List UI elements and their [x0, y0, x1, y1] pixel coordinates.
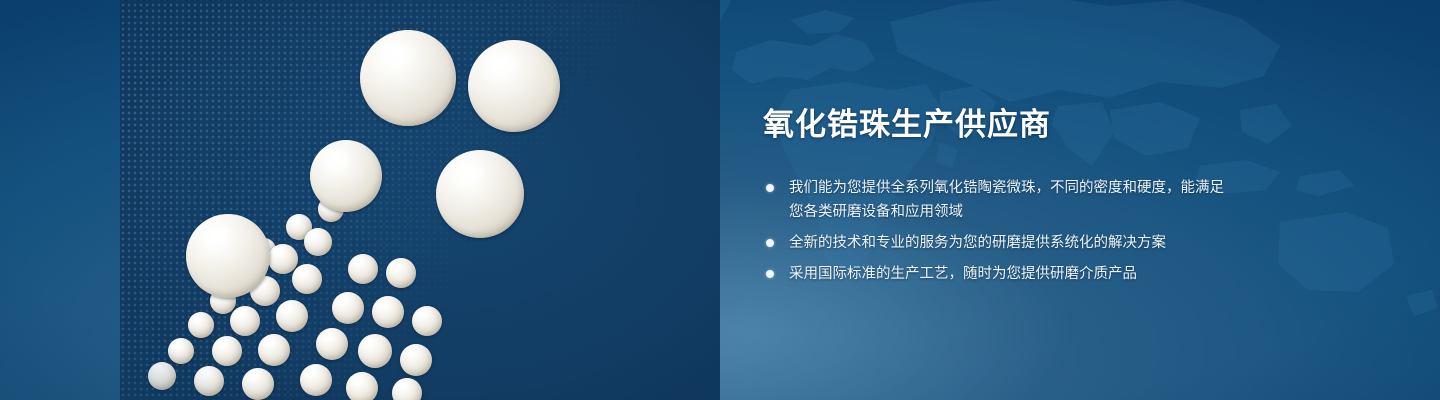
- feature-bullet-item: 全新的技术和专业的服务为您的研磨提供系统化的解决方案: [763, 231, 1233, 255]
- banner-copy: 氧化锆珠生产供应商 我们能为您提供全系列氧化锆陶瓷微珠，不同的密度和硬度，能满足…: [763, 104, 1233, 293]
- feature-bullet-item: 我们能为您提供全系列氧化锆陶瓷微珠，不同的密度和硬度，能满足您各类研磨设备和应用…: [763, 176, 1233, 224]
- feature-bullet-text: 我们能为您提供全系列氧化锆陶瓷微珠，不同的密度和硬度，能满足您各类研磨设备和应用…: [789, 180, 1224, 220]
- feature-bullet-item: 采用国际标准的生产工艺，随时为您提供研磨介质产品: [763, 262, 1233, 286]
- feature-bullet-list: 我们能为您提供全系列氧化锆陶瓷微珠，不同的密度和硬度，能满足您各类研磨设备和应用…: [763, 176, 1233, 286]
- bullet-dot-icon: [766, 184, 774, 192]
- bullet-dot-icon: [766, 239, 774, 247]
- banner-headline: 氧化锆珠生产供应商: [763, 104, 1233, 146]
- hero-banner: 氧化锆珠生产供应商 我们能为您提供全系列氧化锆陶瓷微珠，不同的密度和硬度，能满足…: [0, 0, 1440, 400]
- feature-bullet-text: 全新的技术和专业的服务为您的研磨提供系统化的解决方案: [789, 235, 1166, 251]
- feature-bullet-text: 采用国际标准的生产工艺，随时为您提供研磨介质产品: [789, 266, 1137, 282]
- bullet-dot-icon: [766, 270, 774, 278]
